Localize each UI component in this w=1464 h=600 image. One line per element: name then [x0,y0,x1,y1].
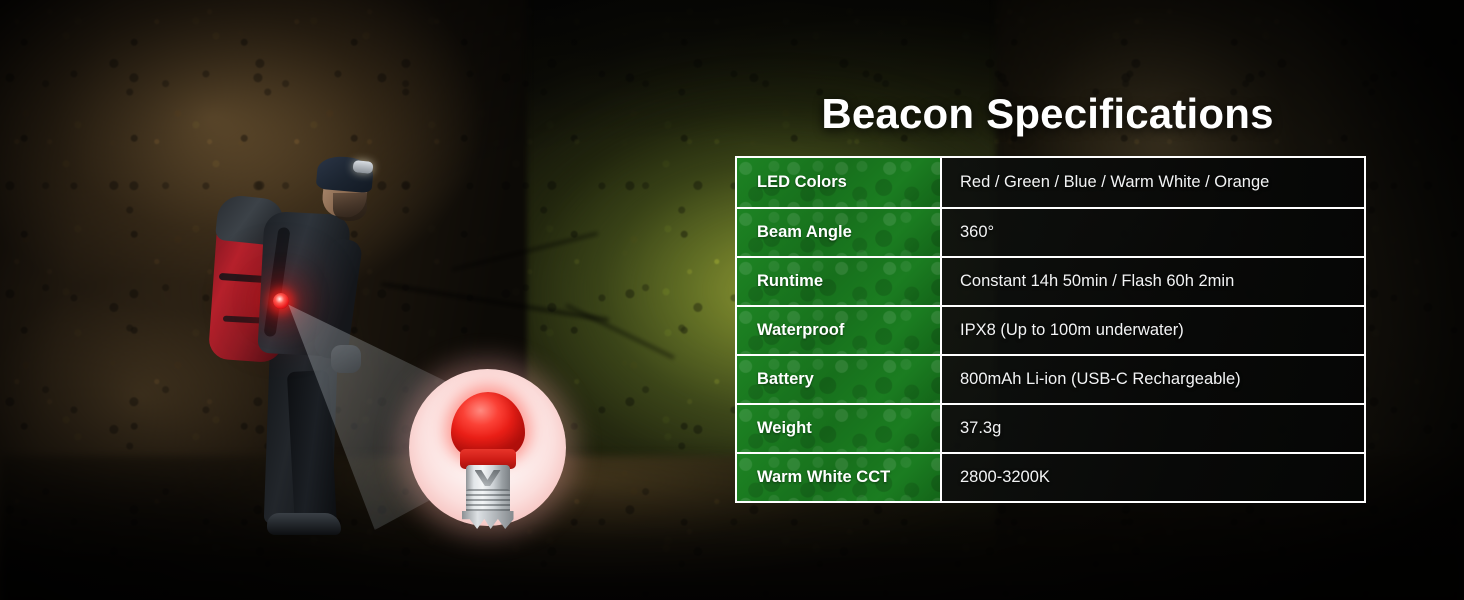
spec-label-waterproof: Waterproof [737,307,942,354]
table-row: Beam Angle 360° [737,207,1364,256]
table-row: Battery 800mAh Li-ion (USB-C Rechargeabl… [737,354,1364,403]
hiker-beard [333,193,367,221]
spec-value-led-colors: Red / Green / Blue / Warm White / Orange [942,158,1364,207]
spec-value-weight: 37.3g [942,405,1364,452]
product-callout-circle [409,369,566,526]
spec-label-battery: Battery [737,356,942,403]
table-row: Waterproof IPX8 (Up to 100m underwater) [737,305,1364,354]
spec-value-warm-white-cct: 2800-3200K [942,454,1364,501]
specifications-table: LED Colors Red / Green / Blue / Warm Whi… [735,156,1366,503]
table-row: Warm White CCT 2800-3200K [737,452,1364,501]
spec-value-runtime: Constant 14h 50min / Flash 60h 2min [942,258,1364,305]
spec-label-weight: Weight [737,405,942,452]
specifications-panel: Beacon Specifications LED Colors Red / G… [735,0,1464,600]
spec-value-waterproof: IPX8 (Up to 100m underwater) [942,307,1364,354]
table-row: Weight 37.3g [737,403,1364,452]
beacon-knurling [466,489,510,513]
red-beacon-light-on-pack [273,293,289,309]
headlamp-icon [352,160,373,174]
spec-label-warm-white-cct: Warm White CCT [737,454,942,501]
spec-label-runtime: Runtime [737,258,942,305]
product-infographic: Beacon Specifications LED Colors Red / G… [0,0,1464,600]
spec-value-beam-angle: 360° [942,209,1364,256]
spec-label-led-colors: LED Colors [737,158,942,207]
hiker-shoe [267,513,341,535]
page-title: Beacon Specifications [735,90,1360,138]
spec-value-battery: 800mAh Li-ion (USB-C Rechargeable) [942,356,1364,403]
table-row: Runtime Constant 14h 50min / Flash 60h 2… [737,256,1364,305]
table-row: LED Colors Red / Green / Blue / Warm Whi… [737,158,1364,207]
spec-label-beam-angle: Beam Angle [737,209,942,256]
